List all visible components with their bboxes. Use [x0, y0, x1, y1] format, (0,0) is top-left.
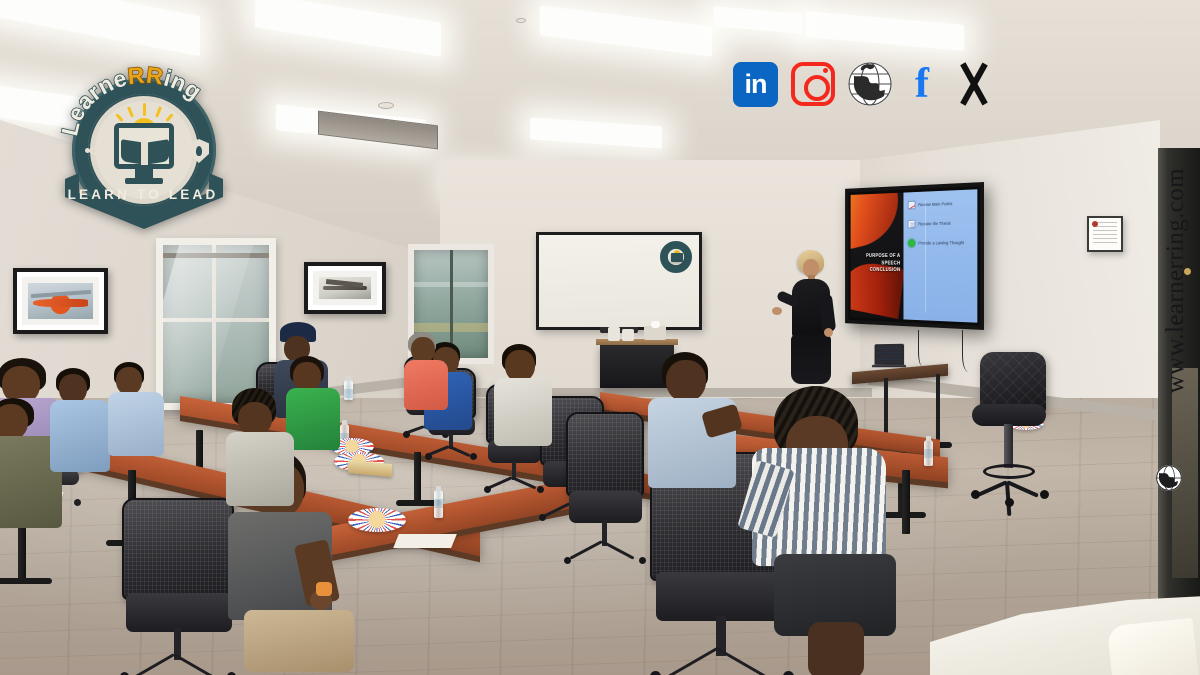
chair-caster [403, 431, 410, 438]
chair-spoke [659, 648, 718, 675]
student-head [116, 367, 142, 395]
student-shorts [244, 610, 354, 672]
facebook-icon[interactable]: f [905, 62, 939, 107]
napkin [393, 534, 457, 548]
presenter-laptop [872, 344, 906, 369]
tv-cable [918, 330, 928, 366]
table-leg [902, 470, 910, 534]
mesh-chair [566, 412, 644, 558]
osprey-artwork [319, 277, 371, 299]
snack-plate [348, 508, 406, 532]
instagram-icon[interactable] [791, 62, 835, 106]
monitor-foot [125, 178, 163, 184]
smoke-detector [516, 18, 526, 23]
water-bottle [924, 440, 933, 466]
chair-caster [1005, 498, 1014, 507]
slide-bullet: Review Main Points [908, 198, 974, 209]
facebook-glyph: f [905, 62, 939, 107]
chair-caster [470, 453, 477, 460]
linkedin-glyph: in [733, 62, 778, 107]
framed-osprey-photo [304, 262, 386, 314]
student-torso [50, 400, 110, 472]
chair-base [488, 476, 540, 488]
tissue-box [644, 326, 666, 340]
learnerring-logo: LearneRRing LEARN TO LEAD [63, 73, 225, 233]
x-icon[interactable] [952, 62, 994, 106]
slide-bullet-text: Restate the Thesis [918, 221, 950, 227]
open-book-icon [671, 253, 683, 262]
chair-caster [539, 514, 546, 521]
laptop-lid [875, 344, 905, 365]
student [494, 344, 556, 454]
student [752, 386, 900, 675]
social-icon-row: in [733, 58, 994, 110]
slide-bullets-panel: Review Main Points Restate the Thesis Pr… [904, 189, 978, 322]
water-bottle [434, 490, 443, 518]
student [648, 352, 744, 502]
presenter-right-hand [824, 328, 833, 337]
slide-bullet: Provide a Lasting Thought [908, 238, 974, 247]
ceiling-light [0, 0, 200, 56]
presenter [772, 250, 852, 398]
laptop-keyboard-base [872, 365, 907, 367]
ceiling-light [806, 11, 964, 51]
student-torso [108, 392, 164, 456]
ceiling-light [530, 117, 662, 148]
globe-icon [1156, 465, 1182, 491]
chair-base [126, 653, 229, 674]
window-glare [156, 238, 263, 410]
chair-seat [569, 491, 642, 523]
student-snack [316, 582, 332, 596]
sun-ray [143, 103, 146, 116]
student-head [238, 402, 272, 436]
table-foot [0, 578, 52, 584]
drafting-chair-seat [972, 404, 1046, 426]
chair-spoke [975, 480, 1008, 497]
node-link [89, 150, 101, 157]
chair-spoke [511, 476, 536, 489]
ceiling-light [255, 0, 441, 57]
student-leg [808, 622, 864, 675]
chair-base [428, 445, 474, 456]
chair-spoke [488, 476, 513, 489]
network-node-icon [85, 140, 107, 162]
chair-seat [126, 593, 231, 632]
open-book-icon [145, 139, 169, 165]
helicopter-artwork [28, 283, 93, 319]
photo-scene: PURPOSE OF A SPEECH CONCLUSION Review Ma… [0, 0, 1200, 675]
slide-bullet: Restate the Thesis [908, 218, 974, 228]
slide-title-panel: PURPOSE OF A SPEECH CONCLUSION [851, 193, 904, 320]
student-head [0, 404, 28, 440]
slide-bullet-text: Review Main Points [918, 201, 952, 207]
certificate-seal [1092, 221, 1098, 227]
chair-caster [650, 671, 661, 675]
adult [404, 332, 452, 410]
drafting-chair-base [975, 476, 1045, 498]
globe-glyph [848, 62, 892, 106]
pencil-cup [608, 327, 620, 341]
water-bottle [344, 380, 353, 400]
student-head [666, 360, 706, 402]
chair-spoke [173, 653, 219, 675]
slide-title: PURPOSE OF A SPEECH CONCLUSION [853, 253, 903, 273]
chart-icon [908, 201, 916, 210]
wall-mounted-tv: PURPOSE OF A SPEECH CONCLUSION Review Ma… [845, 182, 984, 330]
student [226, 388, 298, 508]
chair-spoke [570, 541, 603, 560]
website-url: www.learnerring.com [1162, 168, 1190, 393]
chair-back [566, 412, 644, 497]
linkedin-icon[interactable]: in [733, 62, 778, 107]
presenter-table-leg [936, 374, 940, 444]
slide-divider [925, 199, 926, 312]
ceiling-light [714, 6, 802, 34]
slide-graphic-swoosh [851, 193, 904, 251]
adult-torso [404, 360, 448, 410]
mesh-chair [122, 498, 234, 674]
student-torso [226, 432, 294, 506]
document-icon [908, 220, 916, 229]
tv-screen: PURPOSE OF A SPEECH CONCLUSION Review Ma… [851, 189, 978, 322]
pencil-cup [622, 329, 634, 341]
slide-title-line: CONCLUSION [853, 267, 900, 274]
instagram-glyph [791, 62, 835, 106]
chair-caster [971, 490, 980, 499]
drape-fold [1107, 618, 1199, 675]
framed-helicopter-photo [13, 268, 108, 334]
drafting-chair [968, 352, 1052, 520]
presenter-dress [791, 334, 831, 384]
chair-spoke [1006, 480, 1039, 497]
drafting-chair-cylinder [1004, 424, 1013, 468]
chair-caster [425, 453, 432, 460]
chair-spoke [601, 541, 634, 560]
ceiling-light [540, 5, 712, 56]
whiteboard-learnerring-logo [660, 241, 692, 273]
chair-spoke [128, 653, 174, 675]
globe-icon[interactable] [848, 62, 892, 106]
green-dot-icon [908, 239, 916, 248]
student-torso [494, 378, 552, 446]
student [50, 368, 116, 480]
chair-caster [1040, 490, 1049, 499]
smoke-detector [378, 102, 394, 109]
presenter-left-hand [772, 307, 782, 315]
chair-spoke [449, 446, 471, 458]
x-glyph [952, 62, 994, 106]
table-leg [414, 452, 421, 504]
framed-certificate [1087, 216, 1123, 252]
laptop-screen [876, 345, 902, 363]
chair-caster [639, 557, 646, 564]
logo-tagline: LEARN TO LEAD [63, 187, 223, 203]
student [108, 362, 170, 462]
chair-base [569, 540, 641, 558]
chair-back [122, 498, 234, 600]
whiteboard [536, 232, 702, 330]
book-spine [141, 141, 148, 165]
node-dot [102, 140, 107, 145]
node-dot [102, 157, 107, 162]
